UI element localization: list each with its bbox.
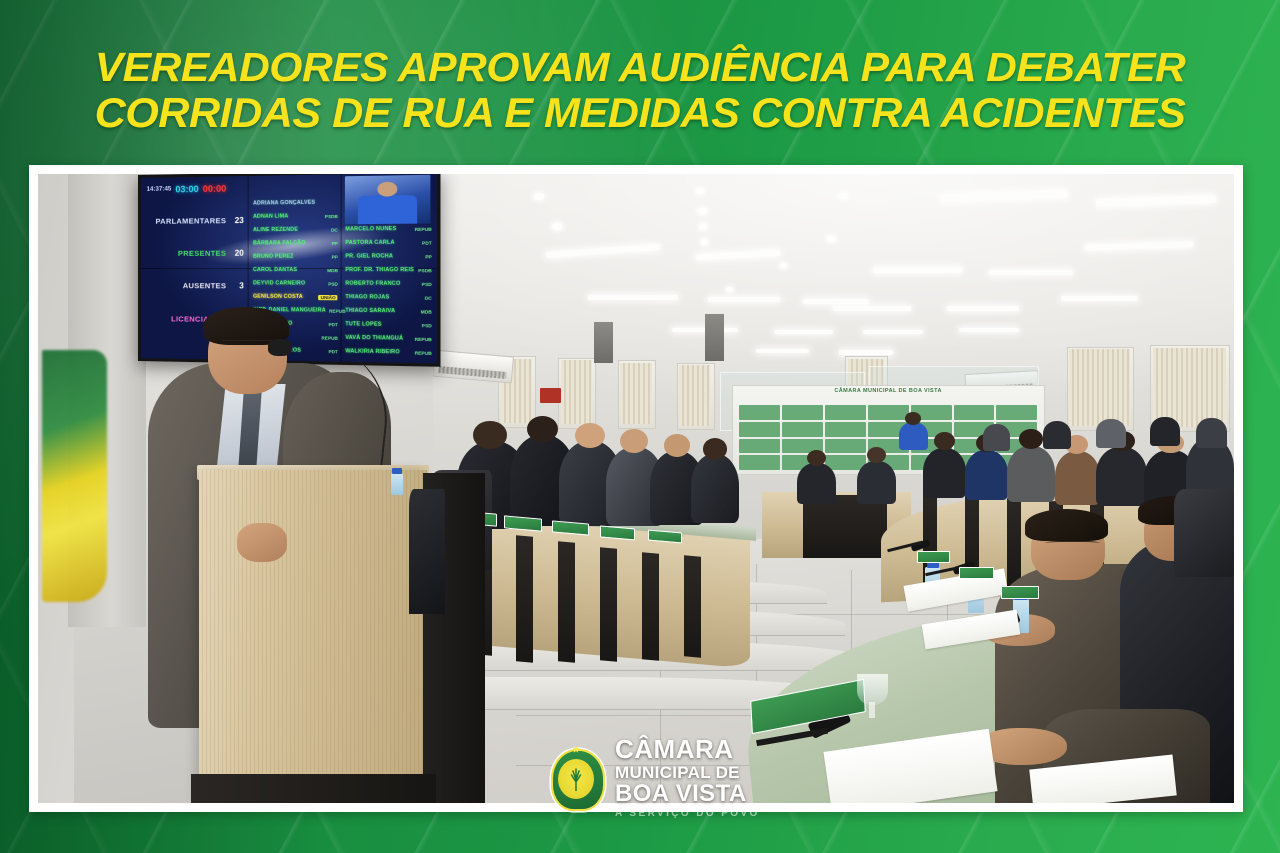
bottle-cap xyxy=(392,468,402,474)
panel-party: UNIÃO xyxy=(319,295,338,300)
bench-panel xyxy=(642,552,659,660)
panel-party: REPUB xyxy=(415,337,432,343)
person-head xyxy=(664,434,690,457)
panel-name: THIAGO SARAIVA xyxy=(346,308,396,315)
banner-logo-chip xyxy=(782,422,823,437)
bench-panel xyxy=(600,547,617,662)
water-bottle xyxy=(391,473,403,496)
brazil-flag xyxy=(42,350,108,602)
wall-banner-title: CÂMARA MUNICIPAL DE BOA VISTA xyxy=(739,388,1038,394)
logo-text: CÂMARA MUNICIPAL DE BOA VISTA A SERVIÇO … xyxy=(615,736,760,819)
person-head xyxy=(527,416,558,442)
ceiling-light xyxy=(833,306,911,311)
logo-tagline: A SERVIÇO DO POVO xyxy=(615,809,760,819)
panel-party: PP xyxy=(332,254,338,259)
voting-panel-screen: 14:37:45 03:00 00:00 PARLAMENTARES 23 PR… xyxy=(138,174,441,367)
panel-name: WALKIRIA RIBEIRO xyxy=(346,349,401,356)
panel-name-row: BRUNO PEREZPP xyxy=(253,252,338,262)
ceiling-light xyxy=(708,297,780,302)
logo-line-1: CÂMARA xyxy=(615,736,760,762)
nameplate xyxy=(1001,586,1039,599)
panel-name: DEYVID CARNEIRO xyxy=(253,281,305,287)
poster-root: VEREADORES APROVAM AUDIÊNCIA PARA DEBATE… xyxy=(0,0,1280,853)
audience-person xyxy=(1150,417,1180,446)
panel-party: PSD xyxy=(329,281,339,286)
panel-timer-green: 03:00 xyxy=(176,184,199,194)
banner-logo-chip xyxy=(739,439,780,454)
panel-timer-red: 00:00 xyxy=(203,183,227,194)
bench-panel xyxy=(516,535,533,662)
panel-name-row: ADNAN LIMAPSDB xyxy=(253,212,338,223)
ceiling-spot-light xyxy=(534,193,544,200)
banner-logo-chip xyxy=(996,405,1037,420)
logo-line-3: BOA VISTA xyxy=(615,782,760,806)
ceiling-spot-light xyxy=(698,208,706,214)
panel-name-row: PROF. DR. THIAGO REISPSDB xyxy=(346,266,433,276)
panel-party: PDT xyxy=(329,322,338,327)
ceiling-spot-light xyxy=(701,239,708,245)
banner-logo-chip xyxy=(868,405,909,420)
panel-name: ADNAN LIMA xyxy=(253,214,288,221)
stat-row: AUSENTES 3 xyxy=(146,281,249,290)
banner-logo-chip xyxy=(825,405,866,420)
stat-value: 23 xyxy=(233,216,244,225)
panel-name-row: BÁRBARA FALCÃOPP xyxy=(253,239,338,249)
podium-microphone-head xyxy=(268,339,292,355)
panel-party: PP xyxy=(426,254,433,259)
presidium-desk-front xyxy=(803,495,887,558)
window-blind xyxy=(561,360,592,424)
banner-logo-chip xyxy=(825,439,866,454)
window-blind xyxy=(1153,348,1226,428)
person-head xyxy=(905,412,921,425)
glass-stem xyxy=(869,702,875,718)
panel-name: CAROL DANTAS xyxy=(253,267,297,273)
ceiling-light xyxy=(989,270,1073,276)
panel-party: PSDB xyxy=(325,214,338,219)
audience-person xyxy=(1096,419,1126,447)
podium-base xyxy=(191,774,436,803)
panel-name: GENILSON COSTA xyxy=(253,294,303,300)
podium-wood-grain xyxy=(199,470,426,803)
audience-person xyxy=(899,422,928,450)
panel-name-row: DEYVID CARNEIROPSD xyxy=(253,279,338,289)
session-photo: CÂMARA MUNICIPAL DE BOA VISTA xyxy=(38,174,1234,803)
panel-name: PR. GIEL ROCHA xyxy=(346,254,394,260)
panel-party: REPUB xyxy=(415,350,432,356)
panel-live-camera-feed xyxy=(345,175,431,225)
panel-name: TUTE LOPES xyxy=(346,322,382,329)
panel-party: PP xyxy=(332,241,338,246)
ceiling-light xyxy=(839,350,893,354)
ceiling-light xyxy=(873,267,963,273)
panel-name: MARCELO NUNES xyxy=(346,226,397,233)
window-blind xyxy=(1069,349,1130,426)
podium xyxy=(199,470,426,803)
ceiling-light xyxy=(756,349,810,353)
ceiling-light xyxy=(947,306,1019,311)
councilor-person xyxy=(1007,446,1055,503)
audience-person xyxy=(1196,418,1227,448)
panel-name-row: PR. GIEL ROCHAPP xyxy=(346,252,433,262)
ceiling-light xyxy=(588,295,678,300)
panel-name-row-active: GENILSON COSTAUNIÃO xyxy=(253,292,338,302)
person-head xyxy=(473,421,506,449)
ceiling-spot-light xyxy=(827,236,835,242)
panel-party: REPUB xyxy=(415,227,432,232)
headline-line-2: CORRIDAS DE RUA E MEDIDAS CONTRA ACIDENT… xyxy=(0,90,1280,136)
panel-name: PROF. DR. THIAGO REIS xyxy=(346,267,415,273)
panel-name-row: VAVÁ DO THIANGUÁREPUB xyxy=(346,333,433,344)
councilor-person xyxy=(1055,451,1100,505)
panel-party: PSD xyxy=(422,323,432,328)
ceiling-light xyxy=(863,330,923,334)
panel-header-name: ADRIANA GONÇALVES xyxy=(253,200,315,207)
panel-name: BRUNO PEREZ xyxy=(253,254,294,260)
crest-tree-icon xyxy=(570,767,582,791)
panel-name: VAVÁ DO THIANGUÁ xyxy=(346,335,404,342)
panel-name-row: MARCELO NUNESREPUB xyxy=(346,224,433,235)
panel-party: PSDB xyxy=(419,268,433,273)
drinking-glass xyxy=(857,674,888,705)
speaker-hand xyxy=(237,523,287,562)
stat-row: PRESENTES 20 xyxy=(146,249,249,258)
wall-speaker xyxy=(705,314,724,361)
panel-name: ROBERTO FRANCO xyxy=(346,281,401,287)
panel-party: PSD xyxy=(422,282,432,287)
panel-name-row: ROBERTO FRANCOPSD xyxy=(346,279,433,289)
panel-clock: 14:37:45 xyxy=(147,186,172,193)
office-chair xyxy=(1174,489,1234,577)
ceiling-light xyxy=(774,330,834,334)
wall-speaker xyxy=(594,322,613,363)
panel-name-row: THIAGO SARAIVAMDB xyxy=(346,306,433,317)
nameplate xyxy=(917,551,950,562)
banner-logo-chip xyxy=(954,405,995,420)
window-blind xyxy=(620,363,651,425)
panel-party: DC xyxy=(425,295,432,300)
nameplate xyxy=(959,567,994,579)
bench-panel xyxy=(684,556,701,658)
person-head xyxy=(1019,429,1043,448)
stat-label: PRESENTES xyxy=(178,249,226,258)
logo-line-2: MUNICIPAL DE xyxy=(615,764,760,781)
eyeglasses-icon xyxy=(1045,541,1100,548)
audience-person xyxy=(983,424,1011,450)
audience-person xyxy=(1043,421,1072,449)
panel-name-row: CAROL DANTASMDB xyxy=(253,266,338,276)
fire-extinguisher-sign xyxy=(540,388,560,403)
panel-name-row: WALKIRIA RIBEIROREPUB xyxy=(346,347,433,358)
panel-party: MDB xyxy=(421,309,432,314)
stat-value: 20 xyxy=(233,249,244,258)
crest-icon xyxy=(546,745,606,811)
panel-party: DC xyxy=(332,227,339,232)
camara-logo: CÂMARA MUNICIPAL DE BOA VISTA A SERVIÇO … xyxy=(546,736,760,819)
side-chair xyxy=(409,489,445,615)
foreground-councilor-hair xyxy=(1025,509,1109,542)
headline-line-1: VEREADORES APROVAM AUDIÊNCIA PARA DEBATE… xyxy=(0,44,1280,90)
photo-frame: CÂMARA MUNICIPAL DE BOA VISTA xyxy=(29,165,1243,812)
panel-name: ALINE REZENDE xyxy=(253,227,298,234)
panel-name: BÁRBARA FALCÃO xyxy=(253,241,306,247)
ceiling-light xyxy=(959,328,1019,332)
councilor-person xyxy=(1096,447,1146,506)
banner-logo-chip xyxy=(739,455,780,470)
presidium-person xyxy=(797,463,835,504)
ceiling-spot-light xyxy=(552,223,562,230)
panel-name: THIAGO ROJAS xyxy=(346,294,390,301)
councilor-person xyxy=(923,448,966,498)
stat-value: 3 xyxy=(233,282,244,291)
banner-logo-chip xyxy=(782,405,823,420)
panel-name-row: ALINE REZENDEDC xyxy=(253,225,338,235)
person-head xyxy=(575,423,605,448)
window-blind xyxy=(679,365,710,425)
ac-vent xyxy=(438,366,507,379)
ceiling-spot-light xyxy=(839,193,847,199)
ceiling-light xyxy=(803,299,869,304)
bench-panel xyxy=(558,541,575,662)
headline: VEREADORES APROVAM AUDIÊNCIA PARA DEBATE… xyxy=(0,44,1280,136)
panel-name-row: TUTE LOPESPSD xyxy=(346,320,433,331)
camera-subject-body xyxy=(359,196,418,225)
panel-name-row: PASTORA CARLAPDT xyxy=(346,238,433,248)
presidium-person xyxy=(857,461,895,504)
councilor-person xyxy=(691,454,739,523)
stat-label: PARLAMENTARES xyxy=(156,216,227,226)
person-head xyxy=(807,450,826,466)
stat-row: PARLAMENTARES 23 xyxy=(146,216,249,226)
ceiling-light xyxy=(1061,296,1139,301)
panel-party: REPUB xyxy=(322,335,338,340)
banner-logo-chip xyxy=(739,422,780,437)
panel-column-header: ADRIANA GONÇALVES xyxy=(253,198,338,209)
stat-label: AUSENTES xyxy=(183,282,226,291)
person-head xyxy=(703,438,727,459)
banner-logo-chip xyxy=(825,422,866,437)
panel-name-row: THIAGO ROJASDC xyxy=(346,293,433,303)
panel-party: MDB xyxy=(328,268,339,273)
panel-name: PASTORA CARLA xyxy=(346,240,395,247)
ceiling-spot-light xyxy=(699,224,706,230)
panel-party: PDT xyxy=(422,240,432,245)
councilor-person xyxy=(965,450,1008,500)
banner-logo-chip xyxy=(739,405,780,420)
